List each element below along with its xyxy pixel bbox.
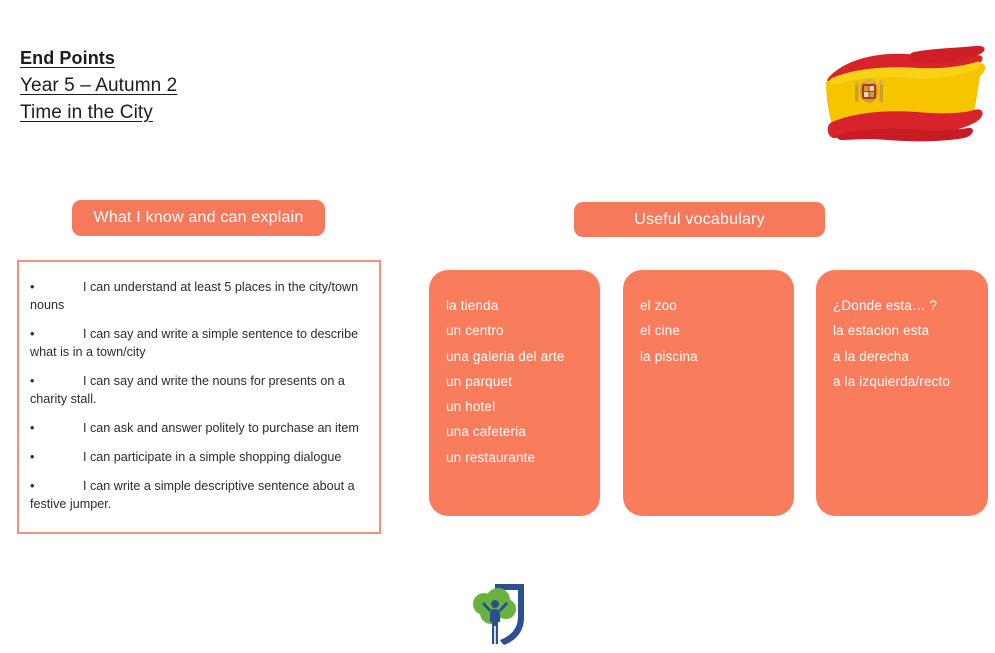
- vocab-line: el zoo: [640, 293, 794, 318]
- vocab-line: una cafeteria: [446, 419, 600, 444]
- list-item-text: I can ask and answer politely to purchas…: [83, 421, 359, 435]
- page-title: End Points Year 5 – Autumn 2 Time in the…: [20, 45, 177, 126]
- vocab-line: el cine: [640, 318, 794, 343]
- vocab-line: un hotel: [446, 394, 600, 419]
- list-item-text: I can say and write the nouns for presen…: [30, 374, 345, 406]
- spain-flag-icon: [816, 42, 988, 146]
- knowledge-list-box: •I can understand at least 5 places in t…: [17, 260, 381, 534]
- list-item: •I can say and write the nouns for prese…: [30, 372, 366, 408]
- vocab-line: la piscina: [640, 344, 794, 369]
- list-item: •I can ask and answer politely to purcha…: [30, 419, 366, 437]
- list-item: •I can participate in a simple shopping …: [30, 448, 366, 466]
- vocab-line: un centro: [446, 318, 600, 343]
- bullet-icon: •: [30, 278, 40, 296]
- section-header-label: What I know and can explain: [94, 209, 304, 227]
- vocab-line: ¿Donde esta… ?: [833, 293, 988, 318]
- bullet-icon: •: [30, 325, 40, 343]
- section-header-what-i-know: What I know and can explain: [72, 200, 325, 236]
- title-line-year-term: Year 5 – Autumn 2: [20, 72, 177, 99]
- vocab-line: un parquet: [446, 369, 600, 394]
- bullet-icon: •: [30, 477, 40, 495]
- bullet-icon: •: [30, 372, 40, 390]
- school-logo-icon: [462, 578, 542, 648]
- title-line-topic: Time in the City: [20, 99, 177, 126]
- vocab-line: una galeria del arte: [446, 344, 600, 369]
- list-item-text: I can say and write a simple sentence to…: [30, 327, 358, 359]
- bullet-icon: •: [30, 448, 40, 466]
- vocab-line: la tienda: [446, 293, 600, 318]
- title-line-end-points: End Points: [20, 45, 177, 72]
- section-header-useful-vocabulary: Useful vocabulary: [574, 202, 825, 237]
- list-item-text: I can understand at least 5 places in th…: [30, 280, 358, 312]
- list-item: •I can understand at least 5 places in t…: [30, 278, 366, 314]
- list-item-text: I can participate in a simple shopping d…: [83, 450, 341, 464]
- vocab-card-places: la tienda un centro una galeria del arte…: [429, 270, 600, 516]
- list-item: •I can say and write a simple sentence t…: [30, 325, 366, 361]
- list-item-text: I can write a simple descriptive sentenc…: [30, 479, 355, 511]
- vocab-line: la estacion esta: [833, 318, 988, 343]
- vocab-card-leisure: el zoo el cine la piscina: [623, 270, 794, 516]
- vocab-line: a la derecha: [833, 344, 988, 369]
- section-header-label: Useful vocabulary: [634, 211, 765, 229]
- vocab-card-directions: ¿Donde esta… ? la estacion esta a la der…: [816, 270, 988, 516]
- bullet-icon: •: [30, 419, 40, 437]
- vocab-line: a la izquierda/recto: [833, 369, 988, 394]
- list-item: •I can write a simple descriptive senten…: [30, 477, 366, 513]
- vocab-line: un restaurante: [446, 445, 600, 470]
